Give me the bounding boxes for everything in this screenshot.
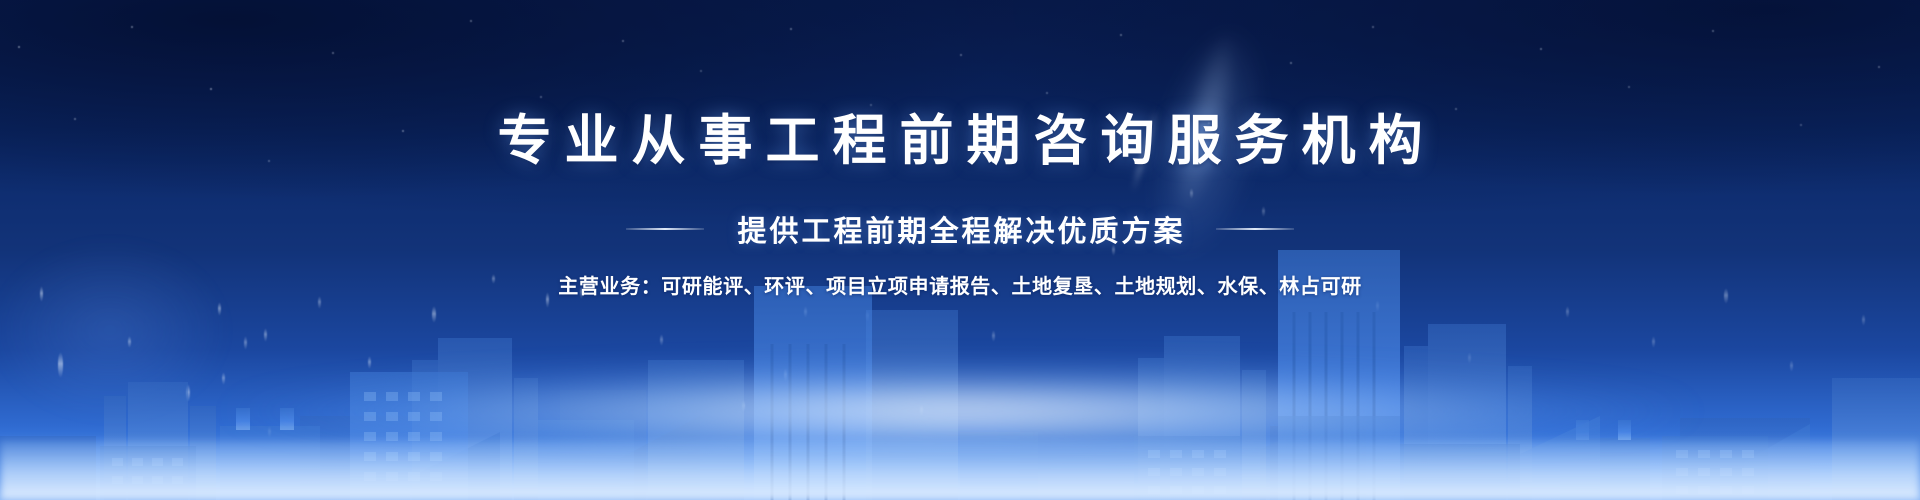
banner-content: 专业从事工程前期咨询服务机构 提供工程前期全程解决优质方案 主营业务：可研能评、… bbox=[0, 0, 1920, 500]
left-rule-decoration bbox=[626, 228, 704, 230]
banner-subtitle-row: 提供工程前期全程解决优质方案 bbox=[0, 208, 1920, 250]
banner-subtitle: 提供工程前期全程解决优质方案 bbox=[734, 208, 1185, 250]
banner-business-scope: 主营业务：可研能评、环评、项目立项申请报告、土地复垦、土地规划、水保、林占可研 bbox=[0, 270, 1920, 299]
banner-title: 专业从事工程前期咨询服务机构 bbox=[0, 112, 1920, 171]
right-rule-decoration bbox=[1216, 228, 1294, 230]
hero-banner: 专业从事工程前期咨询服务机构 提供工程前期全程解决优质方案 主营业务：可研能评、… bbox=[0, 0, 1920, 500]
